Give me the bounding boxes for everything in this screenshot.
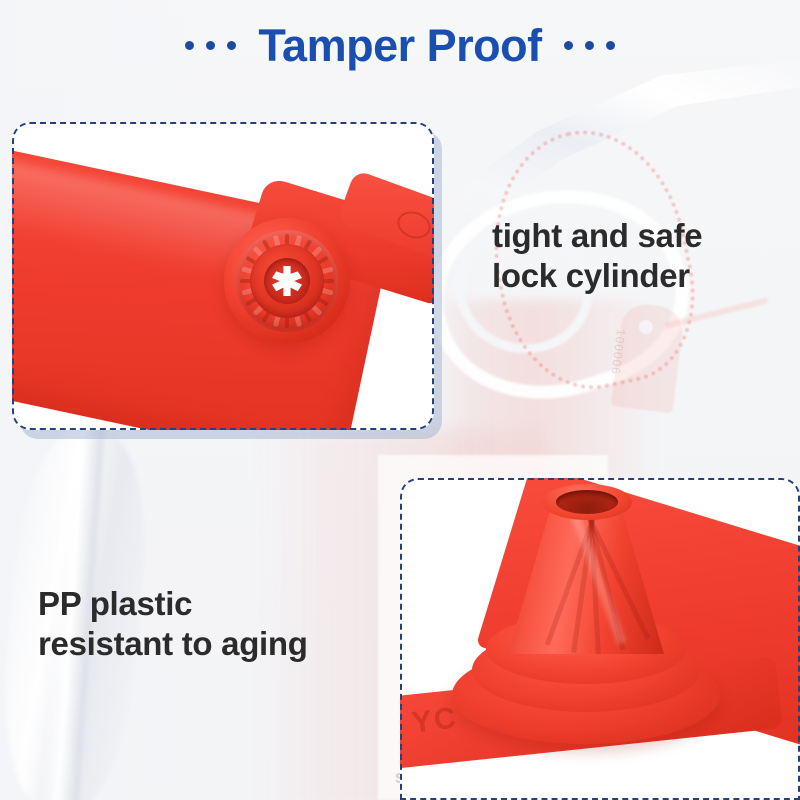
callout-label-pp-plastic: PP plastic resistant to aging [38, 584, 308, 663]
three-dots-icon-right [564, 41, 615, 50]
strap-emboss-text: YC [410, 701, 459, 740]
lock-cylinder-closeup-panel [12, 122, 434, 430]
cone-seal-photo: YC [400, 478, 800, 800]
page-title: Tamper Proof [258, 23, 541, 68]
cone-bore-hole [556, 490, 618, 514]
dot-icon [206, 41, 215, 50]
callout-label-lock-cylinder: tight and safe lock cylinder [492, 216, 702, 295]
dot-icon [185, 41, 194, 50]
dot-icon [564, 41, 573, 50]
dot-icon [227, 41, 236, 50]
dot-icon [585, 41, 594, 50]
header: Tamper Proof [0, 14, 800, 76]
dot-icon [606, 41, 615, 50]
three-dots-icon-left [185, 41, 236, 50]
product-infographic: 100006 SIZE CARTON WEIGHT PAPER Tamper P… [0, 0, 800, 800]
cone-seal-closeup-panel: YC [400, 478, 800, 800]
lock-cylinder-photo [12, 122, 434, 430]
